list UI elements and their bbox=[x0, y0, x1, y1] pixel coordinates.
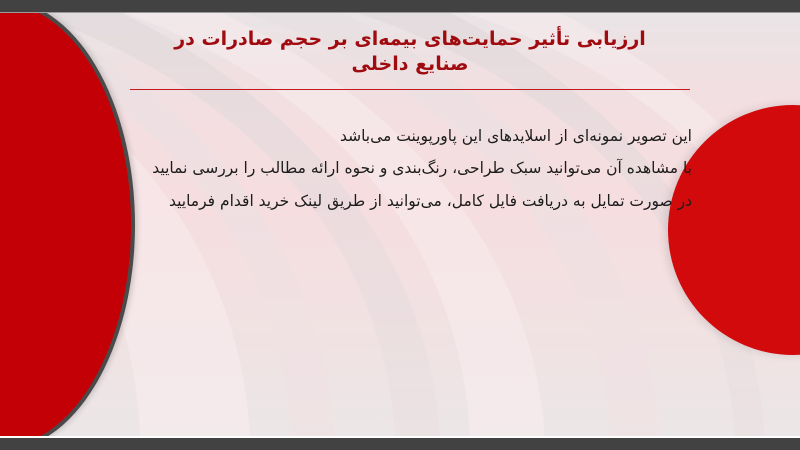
body-line-3: در صورت تمایل به دریافت فایل کامل، می‌تو… bbox=[132, 190, 692, 213]
title-underline-rule bbox=[130, 89, 690, 90]
slide-title-block: ارزیابی تأثیر حمایت‌های بیمه‌ای بر حجم ص… bbox=[120, 27, 700, 78]
left-red-crescent-shape bbox=[0, 12, 135, 438]
presentation-slide: ارزیابی تأثیر حمایت‌های بیمه‌ای بر حجم ص… bbox=[0, 0, 800, 450]
body-line-2: با مشاهده آن می‌توانید سبک طراحی، رنگ‌بن… bbox=[132, 157, 692, 180]
slide-title: ارزیابی تأثیر حمایت‌های بیمه‌ای بر حجم ص… bbox=[120, 27, 700, 78]
slide-body-block: این تصویر نمونه‌ای از اسلایدهای این پاور… bbox=[132, 125, 692, 213]
body-line-1: این تصویر نمونه‌ای از اسلایدهای این پاور… bbox=[132, 125, 692, 148]
slide-canvas: ارزیابی تأثیر حمایت‌های بیمه‌ای بر حجم ص… bbox=[0, 12, 800, 438]
